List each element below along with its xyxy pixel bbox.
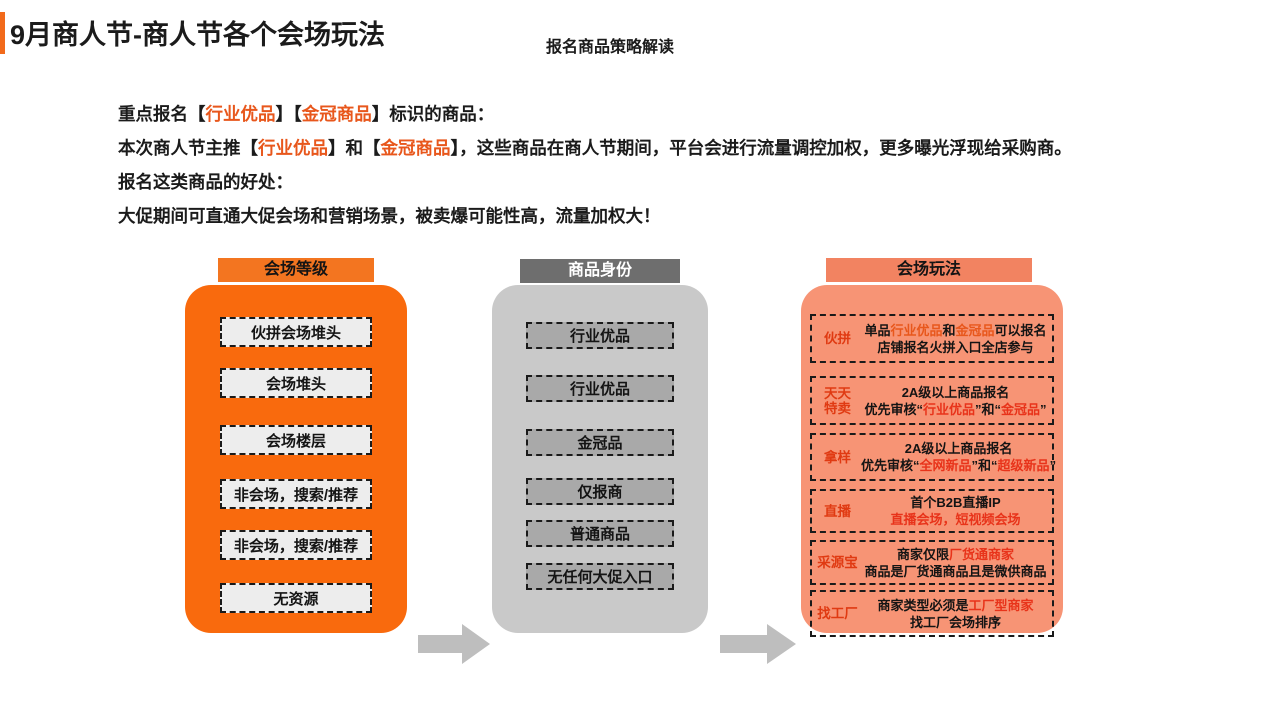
venue-play-cell-line: 优先审核“全网新品”和“超级新品”: [861, 457, 1056, 474]
venue-play-text-run: 商家仅限: [897, 547, 949, 562]
arrow-identity-to-play-top: [720, 624, 796, 664]
strategy-diagram: 会场等级 伙拼会场堆头会场堆头会场楼层非会场，搜索/推荐非会场，搜索/推荐无资源…: [0, 252, 1263, 652]
column-header-venue-level: 会场等级: [218, 258, 374, 282]
venue-play-cell-4[interactable]: 直播首个B2B直播IP直播会场，短视频会场: [810, 489, 1054, 533]
venue-play-cell-body: 单品行业优品和金冠品可以报名店铺报名火拼入口全店参与: [861, 322, 1050, 356]
body-line-2-a: 本次商人节主推【: [118, 138, 258, 158]
venue-play-cell-tag: 拿样: [814, 450, 861, 465]
body-copy: 重点报名【行业优品】【金冠商品】标识的商品： 本次商人节主推【行业优品】和【金冠…: [118, 97, 1178, 233]
column-header-product-identity: 商品身份: [520, 259, 680, 283]
body-line-2: 本次商人节主推【行业优品】和【金冠商品】，这些商品在商人节期间，平台会进行流量调…: [118, 131, 1178, 165]
body-line-2-highlight-2: 金冠商品: [381, 138, 451, 158]
product-identity-cell-label: 金冠品: [577, 432, 622, 453]
venue-play-text-run: 找工厂会场排序: [910, 615, 1001, 630]
column-header-venue-play: 会场玩法: [826, 258, 1032, 282]
venue-play-text-run: ”和“: [975, 402, 1001, 417]
venue-play-cell-body: 商家类型必须是工厂型商家找工厂会场排序: [861, 597, 1050, 631]
venue-level-cell-1[interactable]: 伙拼会场堆头: [220, 317, 372, 347]
venue-level-cell-4[interactable]: 非会场，搜索/推荐: [220, 479, 372, 509]
product-identity-cell-6[interactable]: 无任何大促入口: [526, 563, 674, 590]
venue-play-text-run: 可以报名: [995, 323, 1047, 338]
product-identity-cell-label: 行业优品: [570, 378, 630, 399]
venue-play-cell-line: 商家仅限厂货通商家: [861, 546, 1050, 563]
venue-play-cell-2[interactable]: 天天特卖2A级以上商品报名优先审核“行业优品”和“金冠品”: [810, 376, 1054, 425]
venue-level-cell-label: 非会场，搜索/推荐: [234, 535, 358, 556]
body-line-2-b: 】和【: [328, 138, 381, 158]
body-line-3: 报名这类商品的好处：: [118, 165, 1178, 199]
product-identity-cell-3[interactable]: 金冠品: [526, 429, 674, 456]
venue-play-cell-tag: 采源宝: [814, 555, 861, 570]
product-identity-cell-5[interactable]: 普通商品: [526, 520, 674, 547]
venue-play-text-run: 优先审核“: [861, 458, 920, 473]
venue-play-text-run: 行业优品: [890, 323, 942, 338]
body-line-1-highlight-2: 金冠商品: [302, 104, 372, 124]
product-identity-cell-label: 行业优品: [570, 325, 630, 346]
product-identity-cell-label: 仅报商: [577, 481, 622, 502]
product-identity-cell-label: 普通商品: [570, 523, 630, 544]
venue-play-text-run: 金冠品: [1001, 402, 1040, 417]
product-identity-cell-2[interactable]: 行业优品: [526, 375, 674, 402]
venue-play-cell-tag: 天天特卖: [814, 386, 861, 416]
venue-play-text-run: 超级新品: [998, 458, 1050, 473]
venue-level-cell-label: 伙拼会场堆头: [251, 322, 341, 343]
page-title: 9月商人节-商人节各个会场玩法: [10, 13, 385, 52]
venue-play-text-run: 厂货通商家: [949, 547, 1014, 562]
venue-play-text-run: 金冠品: [956, 323, 995, 338]
venue-level-cell-label: 无资源: [273, 588, 318, 609]
arrow-level-to-identity-top: [418, 624, 490, 664]
venue-play-cell-line: 优先审核“行业优品”和“金冠品”: [861, 401, 1050, 418]
venue-level-cell-6[interactable]: 无资源: [220, 583, 372, 613]
body-line-1-c: 】标识的商品：: [372, 104, 495, 124]
venue-play-cell-tag: 伙拼: [814, 331, 861, 346]
venue-play-cell-line: 单品行业优品和金冠品可以报名: [861, 322, 1050, 339]
venue-play-text-run: 首个B2B直播IP: [910, 495, 1000, 510]
venue-play-cell-line: 直播会场，短视频会场: [861, 511, 1050, 528]
venue-level-cell-5[interactable]: 非会场，搜索/推荐: [220, 530, 372, 560]
venue-play-cell-line: 找工厂会场排序: [861, 614, 1050, 631]
body-line-1-a: 重点报名【: [118, 104, 206, 124]
venue-level-cell-label: 会场楼层: [266, 430, 326, 451]
product-identity-cell-label: 无任何大促入口: [547, 566, 652, 587]
venue-play-cell-1[interactable]: 伙拼单品行业优品和金冠品可以报名店铺报名火拼入口全店参与: [810, 314, 1054, 363]
body-line-2-c: 】，这些商品在商人节期间，平台会进行流量调控加权，更多曝光浮现给采购商。: [451, 138, 1072, 158]
venue-play-text-run: 直播会场，短视频会场: [890, 512, 1020, 527]
title-accent-bar: [0, 12, 5, 54]
body-line-2-highlight-1: 行业优品: [258, 138, 328, 158]
venue-play-text-run: 店铺报名火拼入口全店参与: [877, 340, 1033, 355]
venue-play-cell-body: 商家仅限厂货通商家商品是厂货通商品且是微供商品: [861, 546, 1050, 580]
venue-play-text-run: 和: [942, 323, 955, 338]
venue-play-cell-tag: 找工厂: [814, 606, 861, 621]
venue-play-cell-body: 2A级以上商品报名优先审核“行业优品”和“金冠品”: [861, 384, 1050, 418]
venue-play-text-run: 行业优品: [923, 402, 975, 417]
venue-play-cell-line: 2A级以上商品报名: [861, 384, 1050, 401]
venue-play-cell-line: 首个B2B直播IP: [861, 494, 1050, 511]
venue-play-text-run: 单品: [864, 323, 890, 338]
venue-play-text-run: 工厂型商家: [969, 598, 1034, 613]
venue-play-text-run: ”和“: [972, 458, 998, 473]
page-subtitle: 报名商品策略解读: [546, 33, 674, 57]
venue-play-text-run: 全网新品: [920, 458, 972, 473]
venue-play-text-run: 2A级以上商品报名: [902, 385, 1010, 400]
body-line-4: 大促期间可直通大促会场和营销场景，被卖爆可能性高，流量加权大！: [118, 199, 1178, 233]
venue-level-cell-label: 非会场，搜索/推荐: [234, 484, 358, 505]
venue-play-cell-5[interactable]: 采源宝商家仅限厂货通商家商品是厂货通商品且是微供商品: [810, 540, 1054, 585]
venue-play-text-run: ”: [1040, 402, 1047, 417]
venue-play-cell-3[interactable]: 拿样2A级以上商品报名优先审核“全网新品”和“超级新品”: [810, 433, 1054, 481]
venue-play-cell-body: 首个B2B直播IP直播会场，短视频会场: [861, 494, 1050, 528]
venue-level-cell-2[interactable]: 会场堆头: [220, 368, 372, 398]
body-line-1-highlight-1: 行业优品: [206, 104, 276, 124]
venue-play-text-run: 2A级以上商品报名: [905, 441, 1013, 456]
venue-play-text-run: 商家类型必须是: [877, 598, 968, 613]
slide-root: 9月商人节-商人节各个会场玩法 报名商品策略解读 重点报名【行业优品】【金冠商品…: [0, 0, 1263, 708]
venue-play-cell-6[interactable]: 找工厂商家类型必须是工厂型商家找工厂会场排序: [810, 590, 1054, 637]
venue-level-cell-label: 会场堆头: [266, 373, 326, 394]
venue-play-text-run: 商品是厂货通商品且是微供商品: [864, 564, 1046, 579]
venue-level-cell-3[interactable]: 会场楼层: [220, 425, 372, 455]
venue-play-text-run: 优先审核“: [864, 402, 923, 417]
body-line-1-b: 】【: [276, 104, 302, 124]
venue-play-cell-body: 2A级以上商品报名优先审核“全网新品”和“超级新品”: [861, 440, 1056, 474]
product-identity-cell-4[interactable]: 仅报商: [526, 478, 674, 505]
venue-play-cell-line: 商家类型必须是工厂型商家: [861, 597, 1050, 614]
body-line-1: 重点报名【行业优品】【金冠商品】标识的商品：: [118, 97, 1178, 131]
venue-play-text-run: ”: [1050, 458, 1057, 473]
venue-play-cell-line: 商品是厂货通商品且是微供商品: [861, 563, 1050, 580]
product-identity-cell-1[interactable]: 行业优品: [526, 322, 674, 349]
venue-play-cell-line: 2A级以上商品报名: [861, 440, 1056, 457]
venue-play-cell-tag: 直播: [814, 504, 861, 519]
venue-play-cell-line: 店铺报名火拼入口全店参与: [861, 339, 1050, 356]
